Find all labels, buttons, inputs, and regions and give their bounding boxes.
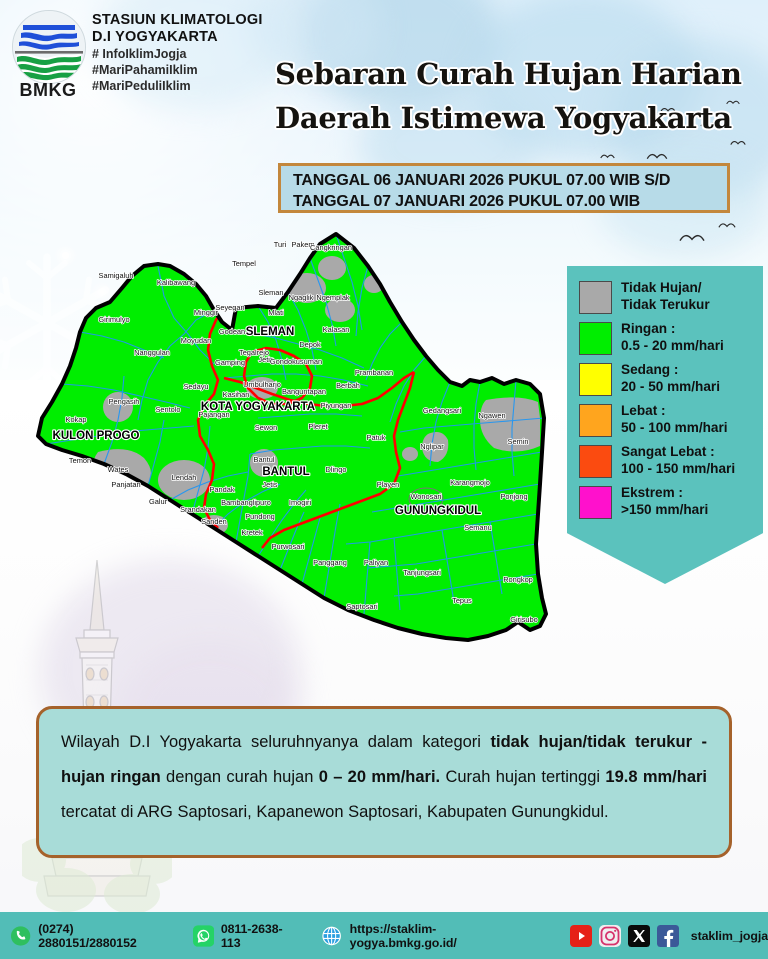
- map-subdistrict-label: Sedayu: [183, 382, 208, 391]
- map-subdistrict-label: Bambanglipuro: [221, 498, 271, 507]
- map-subdistrict-label: Tepus: [452, 596, 472, 605]
- map-subdistrict-label: Berbah: [336, 381, 360, 390]
- map-subdistrict-label: Paliyan: [364, 558, 388, 567]
- date-line-1: TANGGAL 06 JANUARI 2026 PUKUL 07.00 WIB …: [293, 170, 717, 191]
- date-range-banner: TANGGAL 06 JANUARI 2026 PUKUL 07.00 WIB …: [278, 163, 730, 213]
- org-line-2: D.I YOGYAKARTA: [92, 29, 322, 46]
- map-subdistrict-label: Ngaglik: [289, 293, 314, 302]
- map-subdistrict-label: Pengasih: [109, 397, 140, 406]
- footer-social-handle: staklim_jogja: [691, 929, 768, 943]
- map-subdistrict-label: Karangmojo: [450, 478, 490, 487]
- legend-swatch-sedang: [579, 363, 612, 396]
- desc-seg-3: Curah hujan tertinggi: [440, 768, 605, 786]
- legend-swatch-ringan: [579, 322, 612, 355]
- page-title: Sebaran Curah Hujan Harian Daerah Istime…: [275, 52, 745, 140]
- legend-item: Sangat Lebat : 100 - 150 mm/hari: [579, 444, 763, 478]
- map-subdistrict-label: Nglipar: [420, 442, 444, 451]
- map-subdistrict-label: Piyungan: [321, 401, 352, 410]
- facebook-icon[interactable]: [657, 925, 679, 947]
- map-subdistrict-label: Umbulharjo: [243, 380, 281, 389]
- map-subdistrict-label: Kretek: [241, 528, 263, 537]
- map-subdistrict-label: Kalibawang: [157, 278, 195, 287]
- map-subdistrict-label: Prambanan: [355, 368, 393, 377]
- legend-swatch-ekstrem: [579, 486, 612, 519]
- date-line-2: TANGGAL 07 JANUARI 2026 PUKUL 07.00 WIB: [293, 191, 717, 212]
- map-subdistrict-label: Sanden: [201, 517, 226, 526]
- youtube-icon[interactable]: [570, 925, 592, 947]
- footer-website-text: https://staklim-yogya.bmkg.go.id/: [350, 922, 537, 950]
- map-subdistrict-label: Kokap: [66, 415, 87, 424]
- legend-item: Sedang : 20 - 50 mm/hari: [579, 362, 763, 396]
- map-subdistrict-label: Gamping: [215, 358, 245, 367]
- bmkg-logo-caption: BMKG: [8, 80, 88, 101]
- legend-item: Ringan : 0.5 - 20 mm/hari: [579, 321, 763, 355]
- map-subdistrict-label: Pleret: [308, 422, 327, 431]
- map-subdistrict-label: Turi: [274, 240, 287, 249]
- map-subdistrict-label: Gondokusuman: [270, 357, 322, 366]
- map-subdistrict-label: Gedangsari: [423, 406, 462, 415]
- map-subdistrict-label: Seyegan: [215, 303, 244, 312]
- desc-bold-2: 0 – 20 mm/hari.: [319, 768, 440, 786]
- map-regency-label: KULON PROGO: [53, 430, 140, 442]
- map-subdistrict-label: Imogiri: [289, 498, 312, 507]
- map-subdistrict-label: Mlati: [268, 308, 284, 317]
- map-subdistrict-label: Semin: [508, 437, 529, 446]
- legend-item: Lebat : 50 - 100 mm/hari: [579, 403, 763, 437]
- map-subdistrict-label: Girimulyo: [98, 315, 129, 324]
- summary-text: Wilayah D.I Yogyakarta seluruhnyanya dal…: [61, 725, 707, 830]
- map-subdistrict-label: Samigaluh: [99, 271, 134, 280]
- map-subdistrict-label: Bantul: [254, 455, 275, 464]
- map-subdistrict-label: Kalasan: [323, 325, 350, 334]
- map-subdistrict-label: Tanjungsari: [403, 568, 441, 577]
- legend-item: Ekstrem : >150 mm/hari: [579, 485, 763, 519]
- legend-label-line2: 100 - 150 mm/hari: [621, 461, 735, 478]
- map-regency-label: GUNUNGKIDUL: [395, 505, 481, 517]
- map-subdistrict-label: Ponjong: [500, 492, 527, 501]
- map-subdistrict-label: Wates: [108, 465, 129, 474]
- bmkg-logo-mark: [12, 10, 86, 84]
- legend-item: Tidak Hujan/ Tidak Terukur: [579, 280, 763, 314]
- map-subdistrict-label: Sleman: [258, 288, 283, 297]
- globe-icon: [321, 925, 342, 947]
- map-regency-label: KOTA YOGYAKARTA: [201, 401, 315, 413]
- org-line-1: STASIUN KLIMATOLOGI: [92, 12, 322, 29]
- map-subdistrict-label: Kasihan: [223, 390, 250, 399]
- legend-label-line1: Sangat Lebat :: [621, 444, 735, 461]
- whatsapp-icon: [193, 925, 214, 947]
- legend-label-line2: 50 - 100 mm/hari: [621, 420, 728, 437]
- legend-label-line1: Sedang :: [621, 362, 720, 379]
- legend-label-line1: Lebat :: [621, 403, 728, 420]
- summary-description-box: Wilayah D.I Yogyakarta seluruhnyanya dal…: [36, 706, 732, 858]
- rainfall-legend: Tidak Hujan/ Tidak Terukur Ringan : 0.5 …: [567, 266, 763, 584]
- footer-bar: (0274) 2880151/2880152 0811-2638-113 htt…: [0, 912, 768, 959]
- desc-bold-3: 19.8 mm/hari: [605, 768, 707, 786]
- legend-label-line1: Tidak Hujan/: [621, 280, 710, 297]
- legend-label-line1: Ringan :: [621, 321, 724, 338]
- map-subdistrict-label: Girisubo: [510, 615, 538, 624]
- map-subdistrict-label: Rongkop: [503, 575, 533, 584]
- map-subdistrict-label: Playen: [377, 480, 400, 489]
- map-subdistrict-label: Semanu: [464, 523, 492, 532]
- map-subdistrict-label: Jetis: [262, 480, 278, 489]
- map-subdistrict-label: Cangkringan: [310, 243, 352, 252]
- legend-label-line1: Ekstrem :: [621, 485, 708, 502]
- desc-seg-1: Wilayah D.I Yogyakarta seluruhnyanya dal…: [61, 733, 491, 751]
- map-regency-label: BANTUL: [262, 466, 309, 478]
- map-subdistrict-label: Nanggulan: [134, 348, 170, 357]
- map-subdistrict-label: Panjatan: [111, 480, 140, 489]
- legend-label-line2: 0.5 - 20 mm/hari: [621, 338, 724, 355]
- title-line-1: Sebaran Curah Hujan Harian: [275, 52, 745, 96]
- map-subdistrict-label: Purwosari: [272, 542, 305, 551]
- map-subdistrict-label: Sentolo: [155, 405, 180, 414]
- map-subdistrict-label: Galur: [149, 497, 168, 506]
- map-subdistrict-label: Moyudan: [181, 336, 211, 345]
- footer-phone-text: (0274) 2880151/2880152: [38, 922, 170, 950]
- map-subdistrict-label: Wonosari: [410, 492, 441, 501]
- footer-website[interactable]: https://staklim-yogya.bmkg.go.id/: [321, 922, 536, 950]
- footer-whatsapp[interactable]: 0811-2638-113: [193, 922, 300, 950]
- legend-swatch-tidak-hujan: [579, 281, 612, 314]
- footer-socials: staklim_jogja: [563, 925, 768, 947]
- map-subdistrict-label: Saptosari: [346, 602, 378, 611]
- map-subdistrict-label: Pandak: [209, 485, 234, 494]
- desc-seg-2: dengan curah hujan: [161, 768, 319, 786]
- x-icon[interactable]: [628, 925, 650, 947]
- map-subdistrict-label: Ngawen: [478, 411, 505, 420]
- map-subdistrict-label: Dlingo: [326, 465, 347, 474]
- map-subdistrict-label: Patuk: [367, 433, 386, 442]
- legend-label-line2: >150 mm/hari: [621, 502, 708, 519]
- map-subdistrict-label: Sewon: [255, 423, 278, 432]
- title-line-2: Daerah Istimewa Yogyakarta: [275, 96, 745, 140]
- map-subdistrict-label: Banguntapan: [282, 387, 326, 396]
- legend-swatch-sangat-lebat: [579, 445, 612, 478]
- legend-label-line2: Tidak Terukur: [621, 297, 710, 314]
- map-subdistrict-label: Srandakan: [180, 505, 216, 514]
- footer-phone[interactable]: (0274) 2880151/2880152: [10, 922, 171, 950]
- infographic-root: BMKG STASIUN KLIMATOLOGI D.I YOGYAKARTA …: [0, 0, 768, 959]
- map-subdistrict-label: Lendah: [172, 473, 197, 482]
- map-subdistrict-label: Ngemplak: [316, 293, 350, 302]
- legend-swatch-lebat: [579, 404, 612, 437]
- map-regency-label: SLEMAN: [246, 326, 295, 338]
- map-subdistrict-label: Godean: [219, 327, 245, 336]
- map-subdistrict-label: Panggang: [313, 558, 347, 567]
- map-subdistrict-label: Depok: [299, 340, 321, 349]
- desc-seg-4: tercatat di ARG Saptosari, Kapanewon Sap…: [61, 803, 609, 821]
- map-subdistrict-label: Tempel: [232, 259, 256, 268]
- map-subdistrict-label: Pundong: [245, 512, 275, 521]
- phone-icon: [10, 925, 31, 947]
- instagram-icon[interactable]: [599, 925, 621, 947]
- footer-whatsapp-text: 0811-2638-113: [221, 922, 300, 950]
- legend-label-line2: 20 - 50 mm/hari: [621, 379, 720, 396]
- map-subdistrict-label: Temon: [69, 456, 91, 465]
- bmkg-logo: BMKG: [8, 10, 88, 102]
